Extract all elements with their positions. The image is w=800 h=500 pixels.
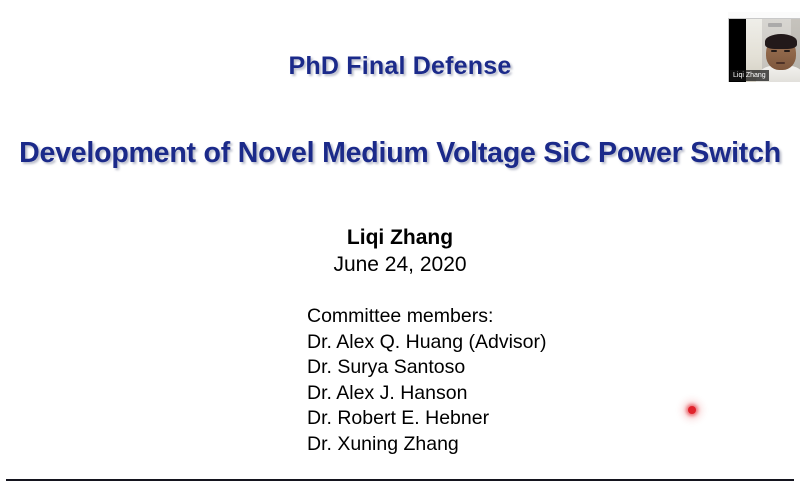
laser-pointer-dot [688, 406, 696, 414]
presentation-slide: PhD Final Defense Development of Novel M… [0, 0, 800, 500]
author-block: Liqi Zhang June 24, 2020 [0, 224, 800, 278]
committee-block: Committee members: Dr. Alex Q. Huang (Ad… [307, 304, 547, 457]
author-name: Liqi Zhang [0, 224, 800, 251]
presentation-date: June 24, 2020 [0, 251, 800, 278]
committee-member: Dr. Alex J. Hanson [307, 381, 547, 407]
slide-subtitle-heading: PhD Final Defense [0, 52, 800, 81]
participant-eye-right [784, 50, 790, 52]
participant-hair [765, 34, 797, 49]
participant-eye-left [771, 50, 777, 52]
committee-member: Dr. Surya Santoso [307, 355, 547, 381]
participant-video-tile[interactable]: Liqi Zhang [728, 18, 800, 82]
committee-member: Dr. Alex Q. Huang (Advisor) [307, 330, 547, 356]
committee-member: Dr. Robert E. Hebner [307, 406, 547, 432]
video-background-object [768, 23, 782, 27]
committee-member: Dr. Xuning Zhang [307, 432, 547, 458]
slide-bottom-rule [6, 479, 794, 481]
participant-mouth [776, 62, 785, 64]
slide-main-title: Development of Novel Medium Voltage SiC … [0, 137, 800, 170]
committee-heading: Committee members: [307, 304, 547, 330]
participant-name-badge: Liqi Zhang [730, 70, 769, 81]
